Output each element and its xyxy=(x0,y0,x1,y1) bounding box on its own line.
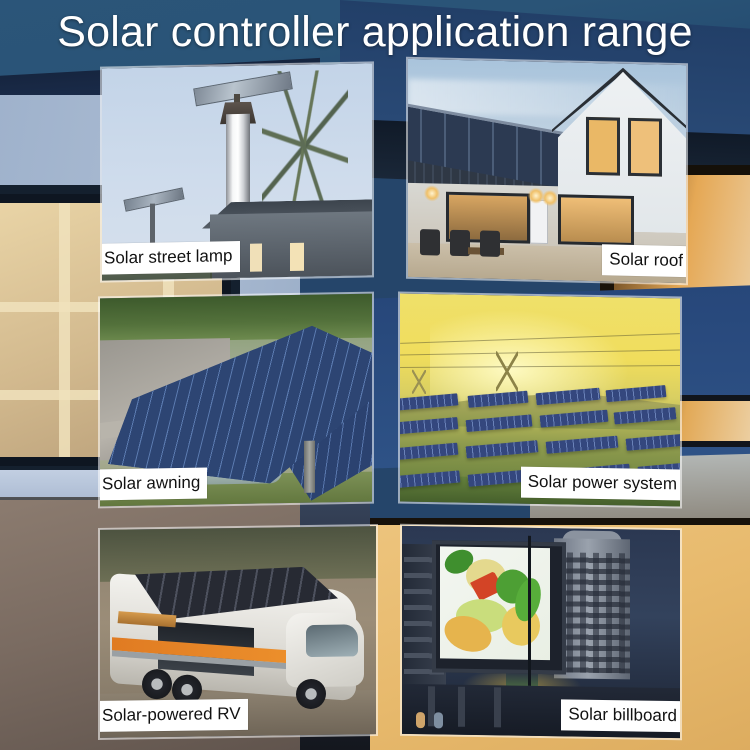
glass-door xyxy=(558,194,634,246)
solar-panel-row xyxy=(466,414,533,432)
transmission-pylon xyxy=(496,351,518,391)
home-battery-unit xyxy=(530,200,548,244)
lit-window xyxy=(250,244,262,272)
patio-chair xyxy=(420,229,440,255)
collage-cell-solar-street-lamp[interactable]: Solar street lamp xyxy=(102,63,372,280)
patio-chair xyxy=(480,230,500,256)
collage-cell-solar-roof[interactable]: Solar roof xyxy=(408,59,686,283)
street-pole xyxy=(528,536,531,686)
collage-cell-solar-billboard[interactable]: Solar billboard xyxy=(402,526,680,738)
solar-panel-row xyxy=(540,410,609,428)
tree-silhouette xyxy=(262,70,348,222)
solar-panel-row xyxy=(614,407,677,424)
cell-label-solar-powered-rv: Solar-powered RV xyxy=(100,699,248,732)
cell-label-solar-billboard: Solar billboard xyxy=(561,699,680,732)
collage-cell-solar-awning[interactable]: Solar awning xyxy=(100,294,372,507)
collage-grid: Solar street lamp xyxy=(0,0,750,750)
solar-panel-row xyxy=(468,391,529,408)
solar-panel-row xyxy=(400,417,458,435)
pedestrian xyxy=(416,712,425,728)
patio-chair xyxy=(450,230,470,256)
cell-label-solar-power-system: Solar power system xyxy=(521,467,680,501)
solar-panel-row xyxy=(626,433,680,451)
poster: Solar controller application range Solar… xyxy=(0,0,750,750)
wall-light xyxy=(542,190,558,206)
solar-panel-row xyxy=(546,436,619,454)
cell-label-solar-street-lamp: Solar street lamp xyxy=(102,241,240,275)
pedestrian xyxy=(434,712,443,728)
solar-panel-row xyxy=(466,440,539,458)
base-column xyxy=(458,687,465,727)
solar-panel-row xyxy=(400,393,458,410)
billboard-screen xyxy=(440,546,550,660)
lit-window xyxy=(628,118,662,177)
cell-label-solar-awning: Solar awning xyxy=(100,468,207,501)
lit-window xyxy=(586,117,620,176)
cell-label-solar-roof: Solar roof xyxy=(602,244,686,277)
rv-windshield xyxy=(306,624,358,657)
lit-window xyxy=(290,243,304,271)
wall-light xyxy=(424,185,440,201)
canopy-support-post xyxy=(304,441,315,493)
solar-panel-row xyxy=(400,443,458,461)
base-column xyxy=(494,687,501,727)
collage-cell-solar-powered-rv[interactable]: Solar-powered RV xyxy=(100,526,376,738)
collage-cell-solar-power-system[interactable]: Solar power system xyxy=(400,294,680,507)
solar-panel-row xyxy=(400,470,460,489)
